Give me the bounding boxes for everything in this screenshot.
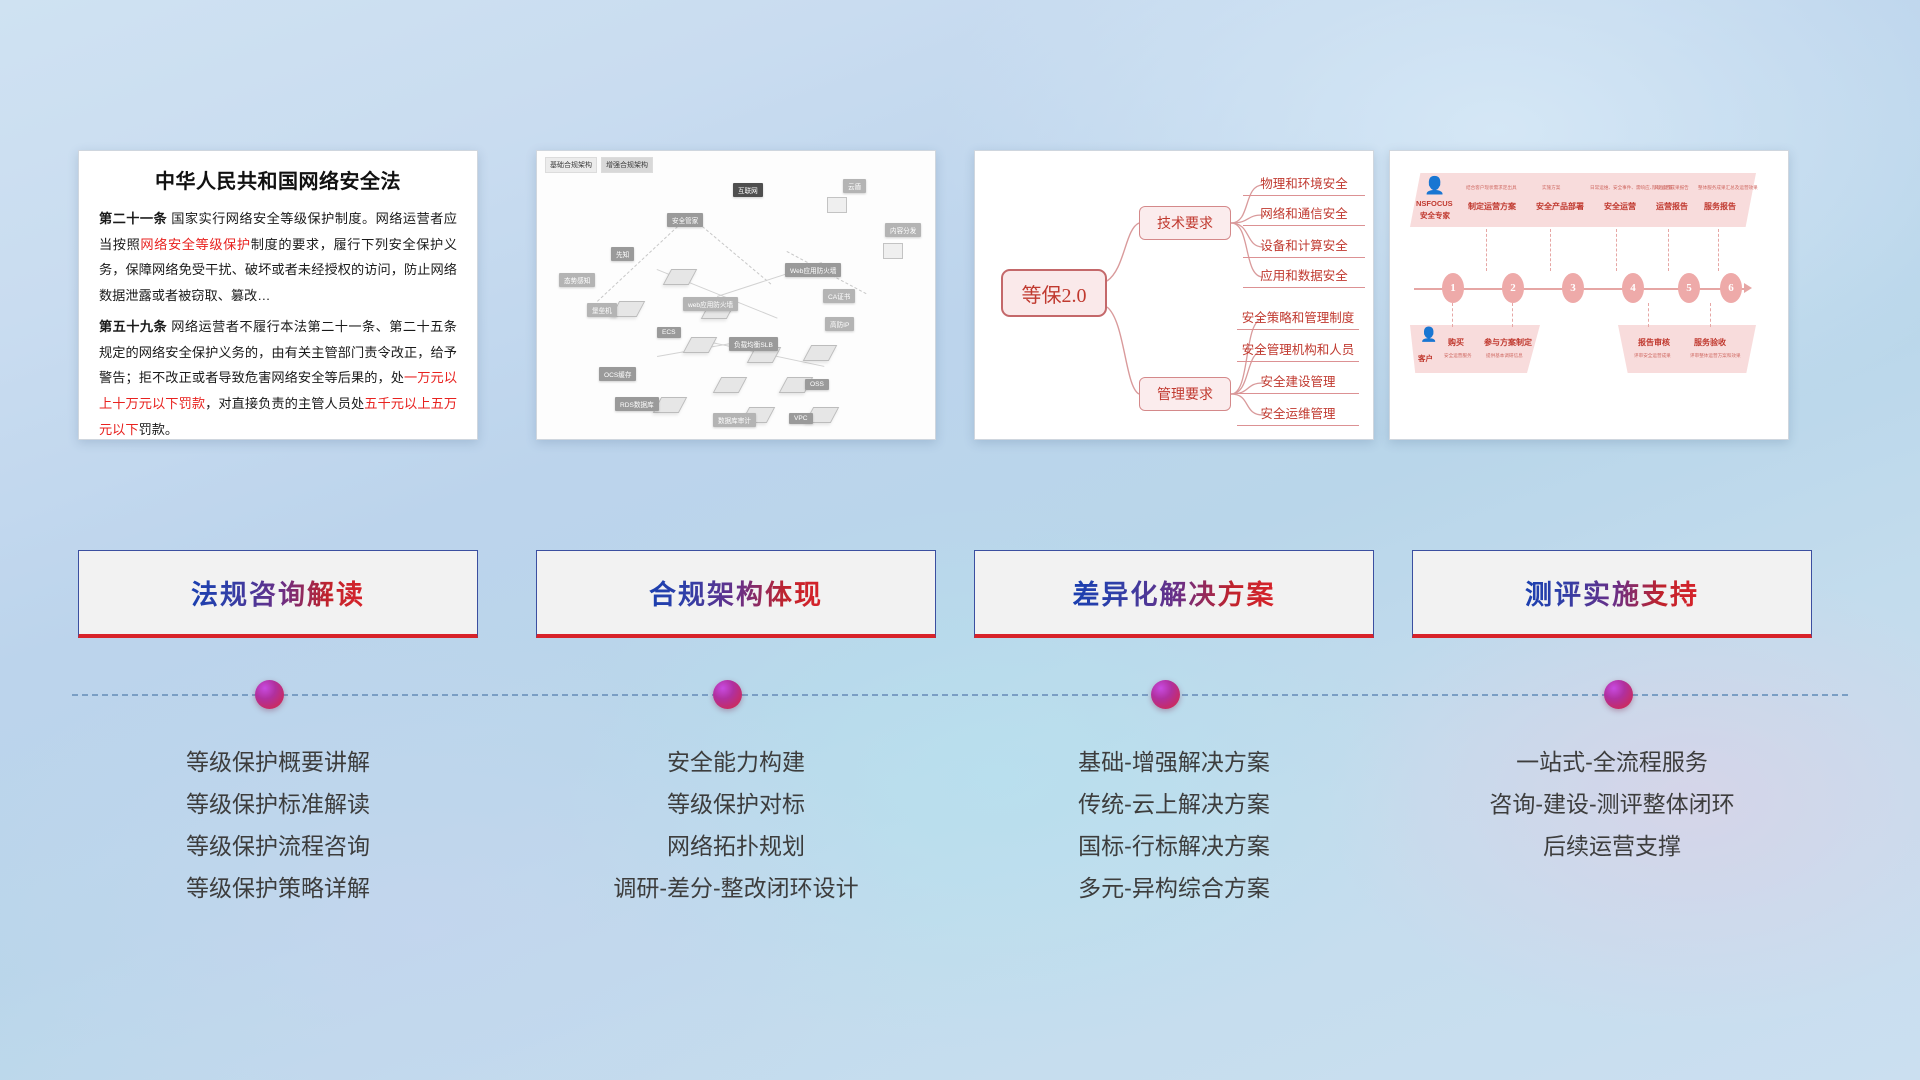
timeline-bottom-sub-1: 安全运营服务 [1444, 353, 1472, 359]
arch-node-situational-awareness: 态势感知 [559, 273, 595, 287]
law-article-21-label: 第二十一条 [99, 211, 167, 226]
detail-column-2: 安全能力构建 等级保护对标 网络拓扑规划 调研-差分-整改闭环设计 [536, 742, 936, 909]
node-cube [683, 337, 718, 353]
rail-dot-1[interactable] [255, 680, 284, 709]
timeline-node-2[interactable]: 2 [1502, 273, 1524, 303]
timeline-drop-line [1452, 303, 1453, 327]
tab-enhanced-architecture[interactable]: 增强合规架构 [601, 157, 653, 173]
law-article-59-text-b: ，对直接负责的主管人员处 [205, 396, 364, 411]
list-item: 等级保护对标 [536, 784, 936, 826]
heading-label: 法规咨询解读 [191, 573, 365, 612]
architecture-diagram: 基础合规架构 增强合规架构 [537, 151, 935, 439]
mindmap-leaf-physical-env: 物理和环境安全 [1243, 173, 1365, 196]
list-item: 咨询-建设-测评整体闭环 [1412, 784, 1812, 826]
heading-box-compliance-architecture[interactable]: 合规架构体现 [536, 550, 936, 638]
arch-node-bastion: 堡垒机 [587, 303, 617, 317]
slide-canvas: 中华人民共和国网络安全法 第二十一条 国家实行网络安全等级保护制度。网络运营者应… [0, 0, 1920, 1080]
list-item: 等级保护流程咨询 [78, 826, 478, 868]
rail-dot-2[interactable] [713, 680, 742, 709]
timeline-bottom-sub-4: 评审整体运营方案和效果 [1690, 353, 1741, 359]
detail-column-4: 一站式-全流程服务 咨询-建设-测评整体闭环 后续运营支撑 [1412, 742, 1812, 868]
timeline-band-customer-right [1618, 325, 1756, 373]
arch-node-ca: CA证书 [823, 289, 855, 303]
timeline-node-5[interactable]: 5 [1678, 273, 1700, 303]
list-item: 等级保护概要讲解 [78, 742, 478, 784]
arch-node-ocs: OCS缓存 [599, 367, 636, 381]
detail-column-1: 等级保护概要讲解 等级保护标准解读 等级保护流程咨询 等级保护策略详解 [78, 742, 478, 909]
mindmap-leaf-operations: 安全运维管理 [1237, 403, 1359, 426]
node-cube [713, 377, 748, 393]
timeline-bottom-main-3: 报告审核 [1638, 337, 1670, 348]
mindmap-branch-management[interactable]: 管理要求 [1139, 377, 1231, 411]
list-item: 后续运营支撑 [1412, 826, 1812, 868]
list-item: 多元-异构综合方案 [974, 868, 1374, 910]
mindmap-root-node[interactable]: 等保2.0 [1001, 269, 1107, 317]
arch-node-anti-ddos: 高防IP [825, 317, 854, 331]
timeline-node-6[interactable]: 6 [1720, 273, 1742, 303]
timeline-drop-line [1710, 303, 1711, 327]
timeline-drop-line [1550, 229, 1551, 271]
mindmap-diagram: 等保2.0 技术要求 管理要求 物理和环境安全 网络和通信安全 设备和计算安全 … [975, 151, 1373, 439]
timeline-drop-line [1668, 229, 1669, 271]
actor-nsfocus-line1: NSFOCUS [1416, 199, 1453, 208]
actor-nsfocus-line2: 安全专家 [1420, 210, 1450, 221]
timeline-diagram: 👤 NSFOCUS 安全专家 结合客户现状需求定出具 制定运营方案 实施方案 安… [1390, 151, 1788, 439]
mindmap-leaf-network-comm: 网络和通信安全 [1243, 203, 1365, 226]
timeline-top-main-2: 安全产品部署 [1536, 201, 1584, 212]
list-item: 传统-云上解决方案 [974, 784, 1374, 826]
arch-node-yundun: 云盾 [843, 179, 866, 193]
architecture-tabs[interactable]: 基础合规架构 增强合规架构 [545, 157, 653, 173]
arch-node-rds: RDS数据库 [615, 397, 659, 411]
tab-basic-architecture[interactable]: 基础合规架构 [545, 157, 597, 173]
list-item: 安全能力构建 [536, 742, 936, 784]
timeline-drop-line [1616, 229, 1617, 271]
heading-box-differentiated-solution[interactable]: 差异化解决方案 [974, 550, 1374, 638]
customer-person-icon: 👤 [1420, 327, 1437, 341]
actor-customer: 客户 [1418, 353, 1433, 364]
arch-node-waf-small: web应用防火墙 [683, 297, 738, 311]
arch-node-cdn: 内容分发 [885, 223, 921, 237]
timeline-drop-line [1512, 303, 1513, 327]
timeline-node-4[interactable]: 4 [1622, 273, 1644, 303]
card-cybersecurity-law[interactable]: 中华人民共和国网络安全法 第二十一条 国家实行网络安全等级保护制度。网络运营者应… [78, 150, 478, 440]
timeline-top-main-4: 运营报告 [1656, 201, 1688, 212]
list-item: 网络拓扑规划 [536, 826, 936, 868]
arch-node-internet: 互联网 [733, 183, 763, 197]
law-article-21: 第二十一条 国家实行网络安全等级保护制度。网络运营者应当按照网络安全等级保护制度… [99, 206, 457, 309]
list-item: 等级保护策略详解 [78, 868, 478, 910]
list-item: 国标-行标解决方案 [974, 826, 1374, 868]
arch-node-waf: Web应用防火墙 [785, 263, 841, 277]
mindmap-leaf-policy-system: 安全策略和管理制度 [1237, 307, 1359, 330]
card-dengbao-mindmap[interactable]: 等保2.0 技术要求 管理要求 物理和环境安全 网络和通信安全 设备和计算安全 … [974, 150, 1374, 440]
timeline-rail [72, 694, 1848, 696]
timeline-top-sub-2: 实施方案 [1542, 185, 1560, 191]
heading-label: 测评实施支持 [1525, 573, 1699, 612]
timeline-top-sub-4: 阶段运营成果报告 [1652, 185, 1689, 191]
arch-node-xianzhi: 先知 [611, 247, 634, 261]
law-article-21-highlight: 网络安全等级保护 [140, 237, 250, 252]
list-item: 等级保护标准解读 [78, 784, 478, 826]
heading-label: 合规架构体现 [649, 573, 823, 612]
arch-node-slb: 负载均衡SLB [729, 337, 778, 351]
timeline-arrow-icon [1744, 283, 1752, 293]
arch-node-security-butler: 安全管家 [667, 213, 703, 227]
expert-person-icon: 👤 [1424, 177, 1445, 194]
law-article-59-label: 第五十九条 [99, 319, 167, 334]
mindmap-leaf-org-personnel: 安全管理机构和人员 [1237, 339, 1359, 362]
timeline-drop-line [1486, 229, 1487, 271]
timeline-bottom-main-4: 服务验收 [1694, 337, 1726, 348]
timeline-bottom-sub-2: 提供基本调研信息 [1486, 353, 1523, 359]
list-item: 调研-差分-整改闭环设计 [536, 868, 936, 910]
law-article-59: 第五十九条 网络运营者不履行本法第二十一条、第二十五条规定的网络安全保护义务的，… [99, 314, 457, 440]
list-item: 基础-增强解决方案 [974, 742, 1374, 784]
server-icon [883, 243, 903, 259]
timeline-node-1[interactable]: 1 [1442, 273, 1464, 303]
mindmap-leaf-construction: 安全建设管理 [1237, 371, 1359, 394]
heading-row: 法规咨询解读 合规架构体现 差异化解决方案 测评实施支持 [0, 550, 1920, 650]
arch-node-oss: OSS [805, 379, 829, 390]
node-cube [803, 345, 838, 361]
mindmap-leaf-device-compute: 设备和计算安全 [1243, 235, 1365, 258]
arch-node-ecs: ECS [657, 327, 681, 338]
server-icon [827, 197, 847, 213]
heading-label: 差异化解决方案 [1073, 573, 1276, 612]
timeline-node-3[interactable]: 3 [1562, 273, 1584, 303]
law-article-59-text-c: 罚款。 [139, 422, 179, 437]
list-item: 一站式-全流程服务 [1412, 742, 1812, 784]
rail-dot-3[interactable] [1151, 680, 1180, 709]
timeline-drop-line [1718, 229, 1719, 271]
mindmap-branch-technical[interactable]: 技术要求 [1139, 206, 1231, 240]
timeline-band-expert [1410, 173, 1756, 227]
timeline-top-main-1: 制定运营方案 [1468, 201, 1516, 212]
law-document: 中华人民共和国网络安全法 第二十一条 国家实行网络安全等级保护制度。网络运营者应… [79, 151, 477, 439]
timeline-bottom-main-2: 参与方案制定 [1484, 337, 1532, 348]
detail-column-3: 基础-增强解决方案 传统-云上解决方案 国标-行标解决方案 多元-异构综合方案 [974, 742, 1374, 909]
timeline-drop-line [1648, 303, 1649, 327]
mindmap-leaf-app-data: 应用和数据安全 [1243, 265, 1365, 288]
timeline-top-main-3: 安全运营 [1604, 201, 1636, 212]
timeline-top-sub-5: 整体服务成果汇总及运营效果 [1698, 185, 1758, 191]
heading-box-assessment-support[interactable]: 测评实施支持 [1412, 550, 1812, 638]
law-title: 中华人民共和国网络安全法 [99, 165, 457, 194]
rail-dot-4[interactable] [1604, 680, 1633, 709]
arch-node-vpc: VPC [789, 413, 813, 424]
heading-box-regulation-consulting[interactable]: 法规咨询解读 [78, 550, 478, 638]
timeline-bottom-main-1: 购买 [1448, 337, 1464, 348]
arch-node-db-audit: 数据库审计 [713, 413, 756, 427]
timeline-top-main-5: 服务报告 [1704, 201, 1736, 212]
card-compliance-architecture[interactable]: 基础合规架构 增强合规架构 [536, 150, 936, 440]
image-card-row: 中华人民共和国网络安全法 第二十一条 国家实行网络安全等级保护制度。网络运营者应… [0, 150, 1920, 450]
timeline-bottom-sub-3: 评审安全运营成果 [1634, 353, 1671, 359]
card-service-timeline[interactable]: 👤 NSFOCUS 安全专家 结合客户现状需求定出具 制定运营方案 实施方案 安… [1389, 150, 1789, 440]
timeline-top-sub-1: 结合客户现状需求定出具 [1466, 185, 1517, 191]
